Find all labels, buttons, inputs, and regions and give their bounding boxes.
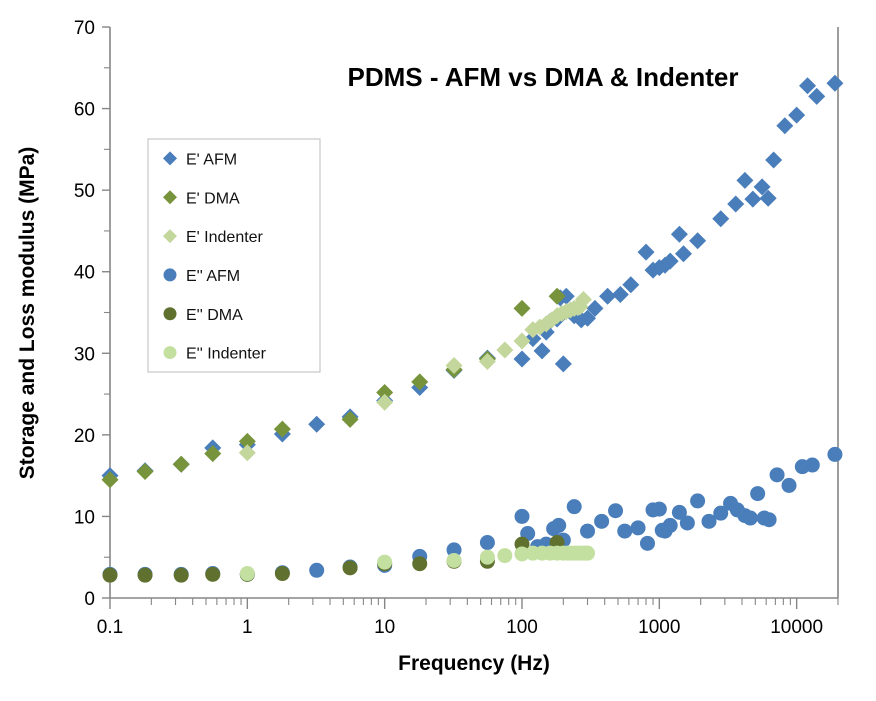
data-point-circle [138,568,153,583]
data-point-circle [412,556,427,571]
x-tick-label: 100 [506,617,538,638]
data-point-circle [663,518,678,533]
data-point-circle [631,520,646,535]
legend-marker-e-dma [164,307,177,320]
data-point-circle [309,563,324,578]
y-tick-label: 40 [74,263,95,284]
data-point-circle [580,546,595,561]
data-point-circle [594,514,609,529]
x-tick-label: 0.1 [97,617,123,638]
y-tick-label: 30 [74,344,95,365]
legend-box [148,139,320,372]
data-point-circle [690,493,705,508]
data-point-circle [805,458,820,473]
data-point-circle [640,536,655,551]
y-tick-label: 70 [74,18,95,39]
y-axis-title: Storage and Loss modulus (MPa) [16,147,39,480]
data-point-circle [240,566,255,581]
data-point-circle [480,535,495,550]
legend-label: E'' AFM [186,268,240,285]
data-point-circle [551,518,566,533]
legend-label: E'' DMA [186,307,243,324]
data-point-circle [750,486,765,501]
legend-label: E' Indenter [186,229,264,246]
data-point-circle [497,548,512,563]
legend-label: E'' Indenter [186,346,267,363]
data-point-circle [103,568,118,583]
plot-background [0,0,876,701]
data-point-circle [174,568,189,583]
data-point-circle [205,567,220,582]
chart-container: 0102030405060700.1110100100010000 PDMS -… [0,0,876,701]
x-axis-title: Frequency (Hz) [398,652,550,675]
data-point-circle [743,511,758,526]
y-tick-label: 20 [74,426,95,447]
data-point-circle [652,502,667,517]
data-point-circle [275,566,290,581]
data-point-circle [377,555,392,570]
y-tick-label: 60 [74,100,95,121]
x-tick-label: 10 [374,617,395,638]
legend-marker-e-afm [164,268,177,281]
x-tick-label: 1 [242,617,253,638]
data-point-circle [447,553,462,568]
y-tick-label: 10 [74,507,95,528]
data-point-circle [680,515,695,530]
data-point-circle [343,560,358,575]
data-point-circle [608,503,623,518]
data-point-circle [617,524,632,539]
data-point-circle [762,512,777,527]
data-point-circle [770,467,785,482]
chart-title: PDMS - AFM vs DMA & Indenter [348,62,739,92]
data-point-circle [515,509,530,524]
x-tick-label: 1000 [638,617,680,638]
data-point-circle [480,550,495,565]
scatter-plot: 0102030405060700.1110100100010000 PDMS -… [0,0,876,701]
legend-label: E' DMA [186,190,240,207]
x-tick-label: 10000 [770,617,823,638]
legend-marker-e-indenter [164,346,177,359]
data-point-circle [567,499,582,514]
data-point-circle [827,447,842,462]
data-point-circle [580,524,595,539]
legend-label: E' AFM [186,151,237,168]
chart-legend: E' AFME' DMAE' IndenterE'' AFME'' DMAE''… [148,139,320,372]
data-point-circle [782,478,797,493]
y-tick-label: 50 [74,181,95,202]
y-tick-label: 0 [84,589,95,610]
